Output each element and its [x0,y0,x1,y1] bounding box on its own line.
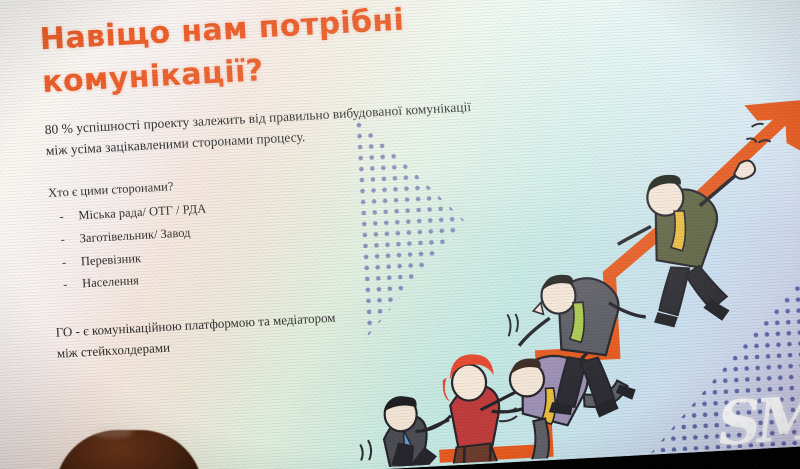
bullet-marker: - [63,273,72,296]
slide-surface: Навіщо нам потрібні комунікації? 80 % ус… [0,0,800,469]
dot-triangle-left [331,82,485,359]
bullet-marker: - [59,205,68,228]
figure-businessman-5 [612,123,781,330]
watermark: SM [715,375,800,469]
bullet-marker: - [61,250,70,273]
list-item-label: Населення [82,270,140,296]
projection-screen: Навіщо нам потрібні комунікації? 80 % ус… [0,0,800,469]
figure-businessman-1 [358,394,454,469]
bullet-marker: - [60,228,69,251]
list-item-label: Перевізник [80,247,141,273]
photo-scene: Навіщо нам потрібні комунікації? 80 % ус… [0,0,800,469]
